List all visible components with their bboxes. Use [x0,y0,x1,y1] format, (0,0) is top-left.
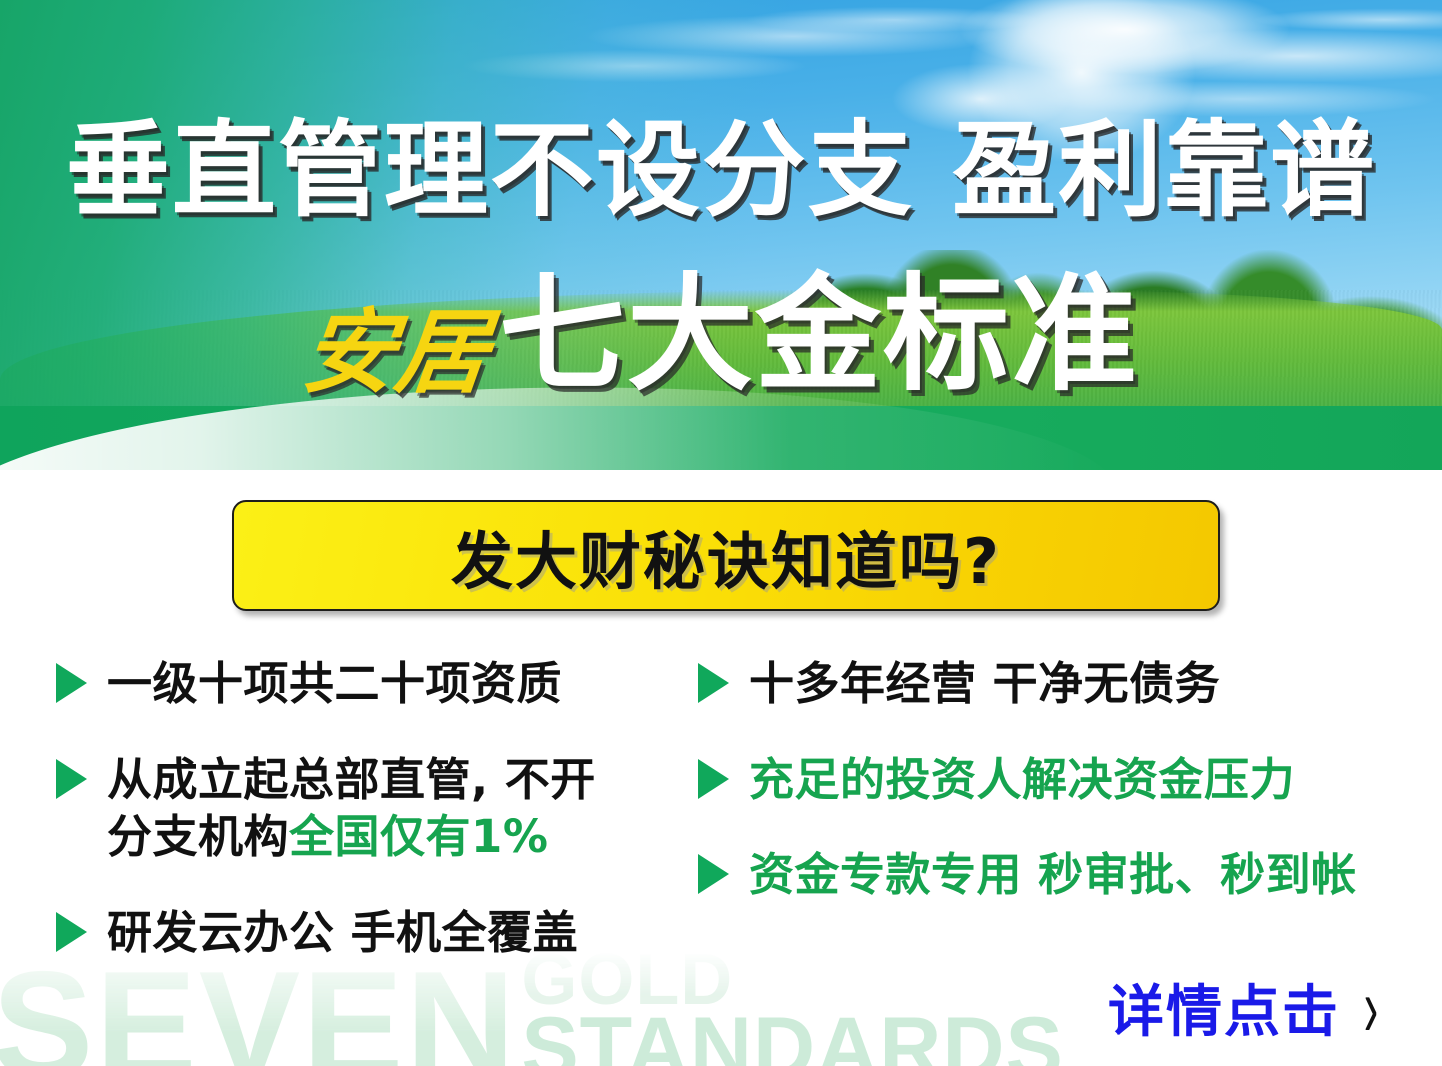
hero-brand-name: 安居 [298,307,494,399]
feature-item-qualifications: 一级十项共二十项资质 [56,655,686,713]
play-triangle-icon [698,663,729,703]
feature-segment: 分支机构 [107,810,289,863]
feature-segment-highlight: 全国仅有1% [289,810,548,863]
play-triangle-icon [698,854,729,894]
feature-item-cloud-office: 研发云办公 手机全覆盖 [56,904,686,962]
feature-text: 从成立起总部直管, 不开 分支机构全国仅有1% [107,751,596,866]
feature-line: 从成立起总部直管, 不开 [107,751,596,809]
features-column-right: 十多年经营 干净无债务 充足的投资人解决资金压力 资金专款专用 秒审批、秒到帐 [698,655,1398,942]
feature-line: 十多年经营 干净无债务 [749,657,1220,710]
feature-text: 充足的投资人解决资金压力 [749,751,1295,809]
feature-item-dedicated-funds: 资金专款专用 秒审批、秒到帐 [698,846,1398,904]
watermark-standards: STANDARDS [521,1012,1064,1066]
question-banner: 发大财秘诀知道吗? [232,500,1220,611]
feature-line: 分支机构全国仅有1% [107,808,596,866]
feature-segment: 从成立起总部直管, 不开 [107,753,596,806]
play-triangle-icon [56,759,87,799]
feature-text: 一级十项共二十项资质 [107,655,562,713]
feature-line: 研发云办公 手机全覆盖 [107,906,578,959]
play-triangle-icon [56,663,87,703]
feature-line: 一级十项共二十项资质 [107,657,562,710]
feature-item-ten-years-no-debt: 十多年经营 干净无债务 [698,655,1398,713]
features-column-left: 一级十项共二十项资质 从成立起总部直管, 不开 分支机构全国仅有1% 研发云办公… [56,655,686,999]
feature-text: 十多年经营 干净无债务 [749,655,1220,713]
feature-line: 资金专款专用 秒审批、秒到帐 [749,848,1357,901]
hero-headline-main: 七大金标准 [499,272,1139,398]
question-banner-text: 发大财秘诀知道吗? [451,511,1001,601]
hero-section: 垂直管理不设分支 盈利靠谱 安居七大金标准 [0,0,1442,470]
content-section: 发大财秘诀知道吗? 一级十项共二十项资质 从成立起总部直管, 不开 分支机构全国… [0,470,1442,1066]
hero-headline-line1: 垂直管理不设分支 盈利靠谱 [0,118,1442,222]
feature-text: 研发云办公 手机全覆盖 [107,904,578,962]
feature-line: 充足的投资人解决资金压力 [749,753,1295,806]
details-cta-label: 详情点击 [1108,967,1340,1048]
feature-item-sufficient-investors: 充足的投资人解决资金压力 [698,751,1398,809]
promo-banner-page: 垂直管理不设分支 盈利靠谱 安居七大金标准 发大财秘诀知道吗? 一级十项共二十项… [0,0,1442,1066]
hero-headline-line2: 安居七大金标准 [0,272,1442,399]
details-cta-button[interactable]: 详情点击 › [1108,967,1380,1048]
play-triangle-icon [56,912,87,952]
chevron-right-icon: › [1364,966,1378,1050]
feature-text: 资金专款专用 秒审批、秒到帐 [749,846,1357,904]
feature-item-headquarters-direct: 从成立起总部直管, 不开 分支机构全国仅有1% [56,751,686,866]
play-triangle-icon [698,759,729,799]
